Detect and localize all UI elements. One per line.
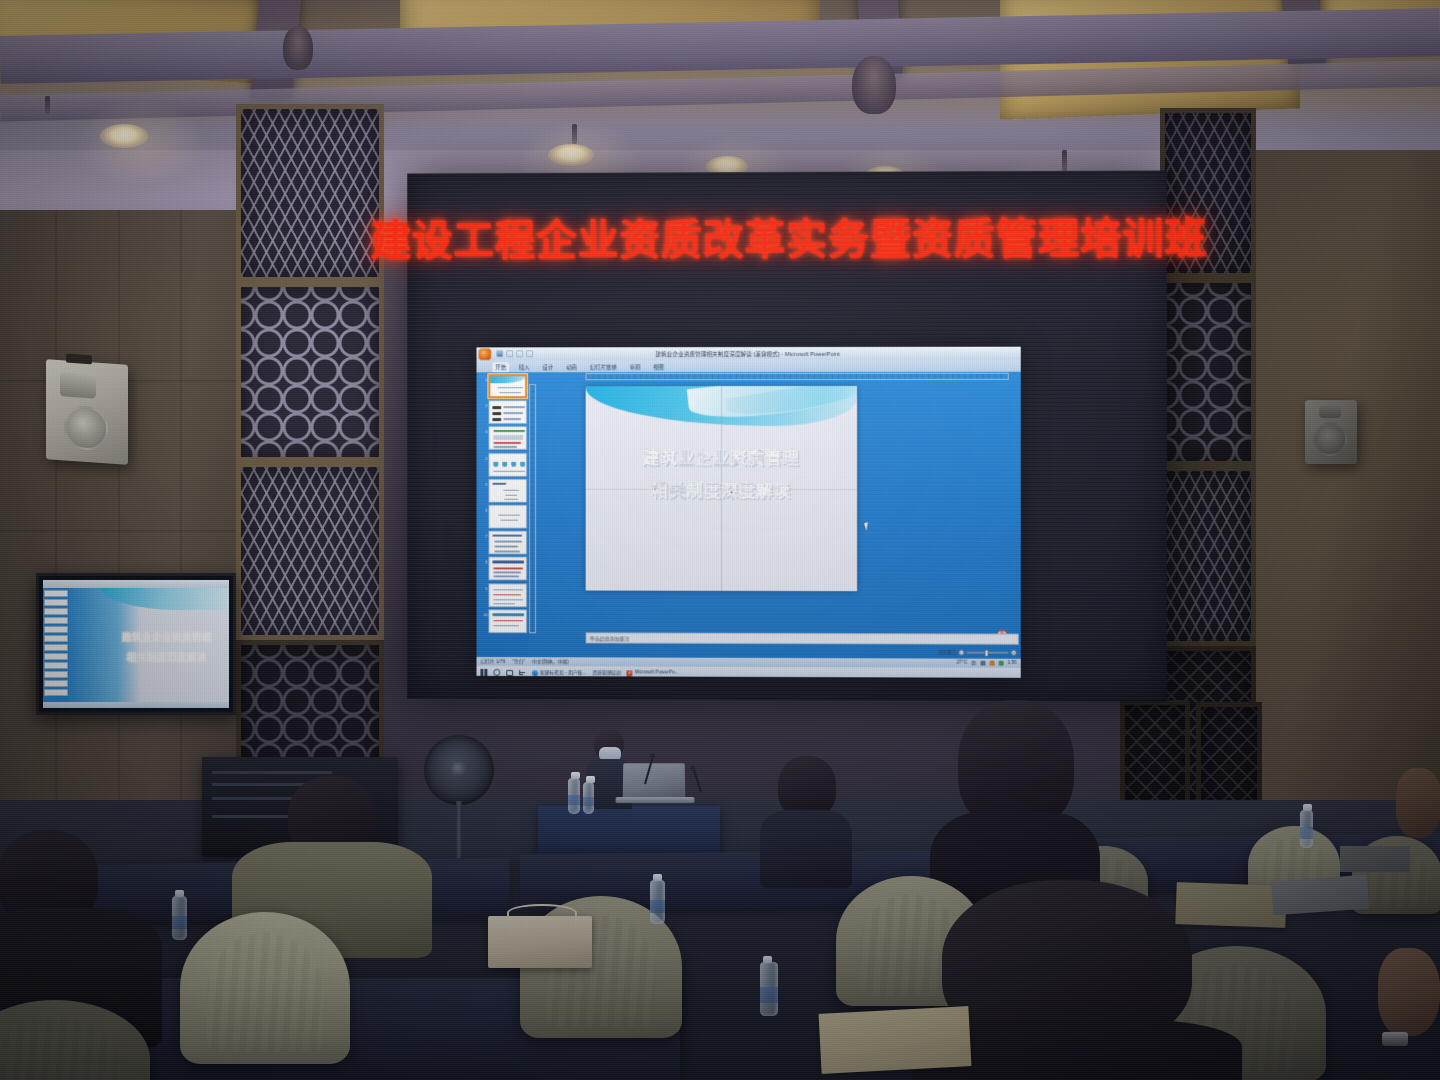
thumb-line: [492, 483, 506, 485]
side-monitor-slide-title: 建筑业企业资质管理 相关制度深度解读: [111, 629, 223, 669]
taskbar-item-label: Microsoft PowerPo...: [635, 670, 679, 675]
ceiling-pendant-rod: [572, 124, 577, 144]
list-item[interactable]: 2: [483, 400, 527, 424]
led-banner: 建设工程企业资质改革实务暨资质管理培训班: [419, 199, 1157, 273]
bottle-label: [172, 916, 187, 929]
ribbon-tab-slideshow[interactable]: 幻灯片放映: [587, 362, 620, 372]
speaker-tweeter: [60, 372, 96, 399]
lattice-screen-panel: [1160, 466, 1256, 646]
thumb-line: [493, 603, 515, 604]
tray-temperature: 27°C: [957, 661, 968, 666]
slide-indicator: 幻灯片 1/76: [480, 658, 505, 665]
thumb-line: [493, 430, 525, 431]
slide-number: 9: [483, 583, 487, 591]
ceiling-downlight: [548, 144, 594, 166]
thumb-line: [503, 412, 523, 413]
thumb-line: [493, 589, 523, 590]
thumb-line: [493, 599, 523, 600]
zoom-out-button[interactable]: -: [958, 650, 964, 656]
thumb-line: [492, 406, 501, 408]
water-bottle: [583, 782, 594, 814]
powerpoint-ribbon-tabs[interactable]: 开始 插入 设计 动画 幻灯片放映 审阅 视图: [476, 360, 1020, 373]
powerpoint-body: 1 2: [476, 372, 1020, 659]
taskbar-item-label: 新建标签页 - 用户账...: [540, 669, 586, 676]
speaker-cone: [64, 404, 108, 451]
side-monitor-titlebar: [43, 580, 229, 588]
presenter-laptop: [623, 763, 686, 798]
ceiling-corbel: [852, 56, 896, 114]
thumb-line: [499, 392, 521, 393]
powerpoint-window[interactable]: 建筑业企业资质管理相关制度深度解读 [兼容模式] - Microsoft Pow…: [476, 347, 1020, 678]
slide-number: 2: [483, 400, 487, 408]
thumb-line: [494, 541, 522, 542]
taskbar-item-powerpoint[interactable]: P Microsoft PowerPo...: [627, 670, 679, 676]
water-bottle: [650, 880, 665, 924]
list-item[interactable]: 9: [483, 583, 527, 607]
thumb: [44, 617, 68, 624]
ribbon-tab-home[interactable]: 开始: [492, 362, 509, 372]
tray-clock[interactable]: 1:56: [1007, 661, 1016, 666]
tray-chevron-icon[interactable]: [980, 661, 985, 666]
slide-editing-area[interactable]: 建筑业企业资质管理 相关制度深度解读 S 中 单击此处添加备注 适应窗口 -: [528, 372, 1021, 659]
thumb-line: [494, 546, 518, 547]
thumb: [44, 644, 68, 651]
lattice-screen-panel: [236, 282, 384, 462]
slide-number: 6: [483, 505, 487, 513]
thumb-line: [492, 412, 501, 414]
vertical-ruler: [529, 384, 536, 633]
tote-bag: [488, 916, 592, 968]
browser-icon[interactable]: [532, 670, 538, 676]
slide-thumbnail[interactable]: [488, 609, 527, 633]
zoom-fit-label[interactable]: 适应窗口: [938, 649, 956, 655]
powerpoint-icon[interactable]: P: [627, 670, 633, 676]
left-wall: [0, 210, 236, 870]
notebook: [1340, 846, 1410, 872]
audience-person: [760, 756, 852, 884]
thumb-line: [498, 515, 520, 516]
water-bottle: [760, 962, 778, 1016]
audience-person: [0, 830, 162, 1030]
speaker-bracket: [66, 354, 92, 365]
powerpoint-title-bar: 建筑业企业资质管理相关制度深度解读 [兼容模式] - Microsoft Pow…: [476, 347, 1020, 361]
slide-wave-graphic: [101, 588, 229, 610]
handout-paper: [1175, 882, 1286, 928]
bottle-label: [650, 900, 665, 913]
tray-network-icon[interactable]: [989, 661, 994, 666]
slide-thumbnail[interactable]: [488, 557, 527, 581]
bottle-cap: [175, 890, 184, 897]
slide-number: 1: [483, 374, 487, 382]
thumb-block: [493, 435, 523, 440]
water-bottle: [1300, 810, 1313, 848]
list-item[interactable]: 1: [483, 374, 527, 398]
thumb-line: [493, 620, 523, 621]
thumb-wave: [490, 376, 525, 383]
wristwatch: [1382, 1032, 1408, 1046]
thumb: [44, 635, 68, 642]
zoom-slider-thumb[interactable]: [985, 649, 988, 656]
lattice-screen-panel: [236, 462, 384, 640]
thumb: [44, 599, 68, 606]
thumb-shape: [511, 461, 516, 466]
ribbon-tab-design[interactable]: 设计: [540, 362, 557, 372]
list-item[interactable]: 6: [483, 505, 527, 529]
list-item[interactable]: 4: [483, 452, 527, 476]
slide-number: 5: [483, 479, 487, 487]
bottle-cap: [586, 776, 595, 783]
slide-thumbnail[interactable]: [488, 583, 527, 607]
side-monitor-screen: 建筑业企业资质管理 相关制度深度解读: [43, 580, 229, 708]
taskbar-item-browser[interactable]: 新建标签页 - 用户账...: [532, 669, 586, 676]
thumb-line: [493, 470, 525, 471]
water-bottle: [172, 896, 187, 940]
thumb: [44, 680, 68, 687]
thumb-line: [493, 625, 519, 626]
thumb-line: [494, 551, 520, 552]
thumb-line: [492, 561, 524, 564]
bottle-label: [568, 795, 580, 806]
thumb-line: [493, 572, 521, 573]
bottle-cap: [653, 874, 662, 881]
slide-number: 3: [483, 426, 487, 434]
led-banner-text: 建设工程企业资质改革实务暨资质管理培训班: [370, 204, 1206, 268]
slide-thumbnail[interactable]: [488, 452, 527, 476]
list-item[interactable]: 8: [483, 557, 527, 581]
side-monitor-body: 建筑业企业资质管理 相关制度深度解读: [43, 588, 229, 702]
thumb-line: [497, 387, 523, 388]
language-indicator[interactable]: 中文(简体，中国): [532, 658, 569, 665]
ribbon-tab-animations[interactable]: 动画: [563, 362, 580, 372]
windows-taskbar[interactable]: 新建标签页 - 用户账... 资质管理培训 P Microsoft PowerP…: [476, 666, 1020, 678]
lattice-screen-panel: [1120, 700, 1190, 810]
thumb-line: [493, 594, 521, 595]
lattice-screen-panel: [236, 104, 384, 282]
lattice-screen-panel: [1160, 278, 1256, 466]
ribbon-tab-view[interactable]: 视图: [650, 362, 667, 372]
thumb-line: [492, 535, 522, 537]
thumb-shape: [520, 461, 525, 466]
thumb: [44, 590, 68, 597]
thumb-line: [500, 520, 518, 521]
mouse-cursor: [864, 521, 873, 531]
search-icon[interactable]: [493, 669, 500, 676]
thumb-line: [493, 576, 519, 577]
conference-room-photo: 建设工程企业资质改革实务暨资质管理培训班 建筑业企业资质管理相关制度深度解读 […: [0, 0, 1440, 1080]
slide-number: 4: [483, 452, 487, 460]
side-slide-title-line-2: 相关制度深度解读: [111, 649, 223, 669]
thumb: [44, 689, 68, 696]
thumb: [44, 653, 68, 660]
thumb-shape: [493, 461, 498, 466]
lattice-screen-panel: [1196, 702, 1262, 810]
slide-title-line-1: 建筑业企业资质管理: [586, 443, 857, 476]
thumb-line: [492, 418, 501, 420]
slide-thumbnail[interactable]: [488, 531, 527, 555]
foreground-hand: [1378, 948, 1440, 1036]
system-tray[interactable]: 27°C 阴 1:56: [957, 660, 1017, 667]
zoom-control[interactable]: 适应窗口 - +: [938, 647, 1016, 657]
ribbon-tab-review[interactable]: 审阅: [627, 362, 644, 372]
wall-speaker-right: [1305, 400, 1357, 464]
start-menu-icon[interactable]: [480, 669, 487, 676]
slide-thumbnail[interactable]: [488, 400, 527, 424]
bottle-cap: [763, 956, 772, 963]
thumb-line: [503, 418, 521, 419]
side-monitor: 建筑业企业资质管理 相关制度深度解读: [36, 573, 236, 715]
slide-number: 8: [483, 557, 487, 565]
slide-thumbnail[interactable]: [488, 374, 527, 398]
list-item[interactable]: 7: [483, 531, 527, 555]
foreground-hand: [1396, 768, 1440, 838]
thumb-line: [505, 495, 517, 496]
ceiling-pendant-rod: [1062, 150, 1067, 172]
list-item[interactable]: 3: [483, 426, 527, 450]
slide-title-block[interactable]: 建筑业企业资质管理 相关制度深度解读: [586, 443, 857, 509]
thumb: [44, 608, 68, 615]
slide-thumbnail[interactable]: [488, 426, 527, 450]
bottle-label: [760, 987, 778, 1003]
side-slide-title-line-1: 建筑业企业资质管理: [111, 629, 223, 649]
notebook: [1271, 875, 1369, 916]
list-item[interactable]: 5: [483, 479, 527, 503]
side-monitor-thumbnails: [43, 588, 69, 702]
thumb-line: [493, 446, 517, 447]
slide-thumbnail[interactable]: [488, 505, 527, 529]
powerpoint-document-title: 建筑业企业资质管理相关制度深度解读 [兼容模式] - Microsoft Pow…: [476, 349, 1020, 358]
task-view-icon[interactable]: [506, 670, 513, 676]
thumb-line: [503, 406, 525, 407]
rack-detail: [212, 771, 332, 774]
speaker-cone: [1313, 422, 1347, 456]
theme-name: "空白": [512, 658, 525, 665]
tray-weather: 阴: [971, 660, 976, 667]
taskbar-item-label: 资质管理培训: [592, 669, 621, 676]
wall-speaker-left: [46, 359, 128, 465]
thumb-line: [504, 498, 518, 499]
slide-number: 7: [483, 531, 487, 539]
thumb-line: [492, 613, 524, 616]
ribbon-tab-insert[interactable]: 插入: [516, 362, 533, 372]
horizontal-ruler: [586, 373, 1009, 380]
notes-pane[interactable]: 单击此处添加备注: [586, 632, 1019, 644]
person-torso: [760, 810, 852, 888]
tray-volume-icon[interactable]: [998, 661, 1003, 666]
thumb-shape: [502, 461, 507, 466]
water-bottle: [568, 778, 580, 814]
slide-number: 10: [483, 609, 487, 617]
ceiling-downlight: [100, 124, 148, 148]
thumb-line: [503, 490, 519, 491]
bottle-label: [1300, 827, 1313, 838]
bottle-label: [583, 797, 594, 807]
current-slide[interactable]: 建筑业企业资质管理 相关制度深度解读: [586, 386, 857, 591]
bottle-cap: [571, 772, 580, 779]
bottle-cap: [1303, 804, 1312, 811]
speaker-tweeter: [1319, 405, 1341, 418]
thumb: [44, 671, 68, 678]
slide-thumbnail-panel[interactable]: 1 2: [476, 372, 528, 657]
slide-title-line-2: 相关制度深度解读: [586, 476, 857, 509]
handout-paper: [819, 1006, 972, 1074]
side-monitor-taskbar: [43, 702, 229, 708]
taskbar-item-folder[interactable]: 资质管理培训: [592, 669, 621, 676]
person-head: [958, 700, 1074, 830]
slide-thumbnail[interactable]: [488, 479, 527, 503]
zoom-in-button[interactable]: +: [1011, 650, 1017, 656]
ceiling-corbel: [283, 26, 313, 70]
person-head: [778, 756, 836, 818]
led-display-wall: 建设工程企业资质改革实务暨资质管理培训班 建筑业企业资质管理相关制度深度解读 […: [407, 170, 1167, 701]
file-explorer-icon[interactable]: [519, 670, 526, 676]
ceiling-pendant-rod: [45, 96, 50, 114]
thumb: [44, 662, 68, 669]
zoom-slider-track[interactable]: [966, 652, 1009, 654]
thumb-line: [493, 568, 523, 569]
thumb-line: [493, 442, 521, 443]
audience-chair: [180, 912, 350, 1064]
fan-hub: [451, 762, 467, 778]
side-monitor-slide: 建筑业企业资质管理 相关制度深度解读: [69, 588, 229, 702]
list-item[interactable]: 10: [483, 609, 527, 633]
thumb: [44, 626, 68, 633]
